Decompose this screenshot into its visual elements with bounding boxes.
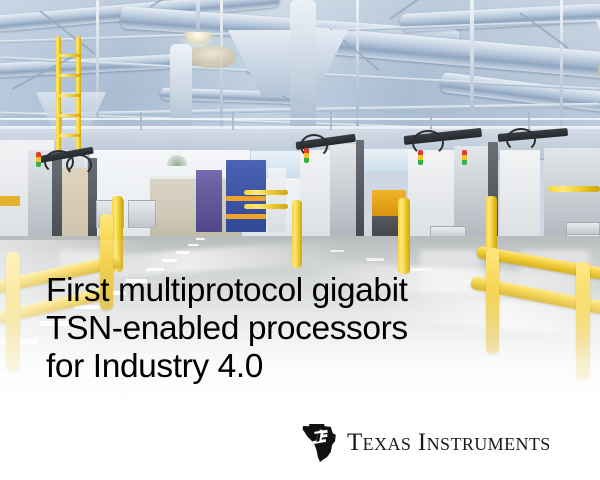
storage-rack xyxy=(196,170,222,232)
safety-guardrail xyxy=(244,204,288,209)
floor-marking xyxy=(146,268,164,271)
texas-instruments-logo: Texas Instruments xyxy=(302,424,551,462)
safety-guardrail xyxy=(548,186,600,192)
safety-bollard xyxy=(292,200,302,268)
access-ladder xyxy=(56,36,82,166)
ceiling-lamp xyxy=(185,32,211,44)
floor-marking xyxy=(188,244,199,246)
floor-marking xyxy=(196,238,205,240)
headline-line-1: First multiprotocol gigabit xyxy=(46,272,566,310)
texas-instruments-wordmark: Texas Instruments xyxy=(347,430,551,456)
headline-line-2: TSN-enabled processors xyxy=(46,310,566,348)
safety-guardrail xyxy=(244,190,288,195)
ti-press-image: First multiprotocol gigabit TSN-enabled … xyxy=(0,0,600,480)
safety-bollard xyxy=(398,198,410,274)
floor-marking xyxy=(162,259,177,262)
headline: First multiprotocol gigabit TSN-enabled … xyxy=(46,272,566,386)
texas-state-ti-monogram-icon xyxy=(302,424,338,462)
headline-line-3: for Industry 4.0 xyxy=(46,348,566,386)
floor-marking xyxy=(176,251,189,254)
